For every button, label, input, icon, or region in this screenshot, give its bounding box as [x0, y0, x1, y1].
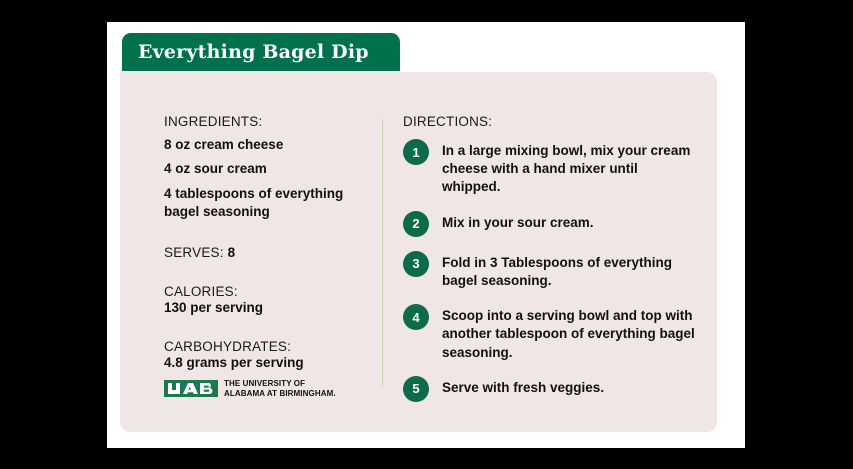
list-item: 3 Fold in 3 Tablespoons of everything ba… — [403, 251, 699, 290]
step-text: Serve with fresh veggies. — [442, 376, 699, 397]
serves-label: SERVES: — [164, 245, 224, 260]
step-text: Scoop into a serving bowl and top with a… — [442, 304, 699, 362]
ingredient-item: 8 oz cream cheese — [164, 136, 369, 154]
directions-list: 1 In a large mixing bowl, mix your cream… — [403, 139, 699, 402]
carbohydrates-label: CARBOHYDRATES: — [164, 339, 369, 354]
recipe-title-banner: Everything Bagel Dip — [122, 33, 400, 71]
list-item: 4 Scoop into a serving bowl and top with… — [403, 304, 699, 362]
ingredient-item: 4 oz sour cream — [164, 160, 369, 178]
ingredients-heading: INGREDIENTS: — [164, 114, 369, 129]
calories-value: 130 per serving — [164, 300, 369, 315]
step-number-badge: 1 — [403, 139, 429, 165]
uab-logo: THE UNIVERSITY OF ALABAMA AT BIRMINGHAM. — [164, 379, 336, 398]
step-text: Fold in 3 Tablespoons of everything bage… — [442, 251, 699, 290]
directions-column: DIRECTIONS: 1 In a large mixing bowl, mi… — [403, 114, 699, 416]
ingredients-column: INGREDIENTS: 8 oz cream cheese 4 oz sour… — [164, 114, 369, 370]
page-title: Everything Bagel Dip — [138, 41, 369, 63]
screenshot-stage: Everything Bagel Dip INGREDIENTS: 8 oz c… — [0, 0, 853, 469]
step-text: Mix in your sour cream. — [442, 211, 699, 232]
list-item: 5 Serve with fresh veggies. — [403, 376, 699, 402]
uab-logo-line2: ALABAMA AT BIRMINGHAM. — [224, 389, 336, 398]
list-item: 1 In a large mixing bowl, mix your cream… — [403, 139, 699, 197]
step-number-badge: 2 — [403, 211, 429, 237]
serves-block: SERVES: 8 — [164, 245, 369, 260]
column-divider — [382, 119, 383, 387]
step-number-badge: 3 — [403, 251, 429, 277]
step-number-badge: 5 — [403, 376, 429, 402]
ingredient-item: 4 tablespoons of everything bagel season… — [164, 185, 369, 222]
recipe-card: Everything Bagel Dip INGREDIENTS: 8 oz c… — [107, 22, 745, 448]
calories-block: CALORIES: 130 per serving — [164, 284, 369, 315]
carbohydrates-block: CARBOHYDRATES: 4.8 grams per serving — [164, 339, 369, 370]
uab-logo-wordmark: THE UNIVERSITY OF ALABAMA AT BIRMINGHAM. — [224, 379, 336, 398]
carbohydrates-value: 4.8 grams per serving — [164, 355, 369, 370]
serves-line: SERVES: 8 — [164, 245, 369, 260]
directions-heading: DIRECTIONS: — [403, 114, 699, 129]
serves-value: 8 — [228, 245, 236, 260]
calories-label: CALORIES: — [164, 284, 369, 299]
list-item: 2 Mix in your sour cream. — [403, 211, 699, 237]
uab-logo-line1: THE UNIVERSITY OF — [224, 379, 336, 388]
recipe-content-panel: INGREDIENTS: 8 oz cream cheese 4 oz sour… — [120, 72, 717, 432]
uab-logo-mark-icon — [164, 380, 218, 397]
step-number-badge: 4 — [403, 304, 429, 330]
step-text: In a large mixing bowl, mix your cream c… — [442, 139, 699, 197]
